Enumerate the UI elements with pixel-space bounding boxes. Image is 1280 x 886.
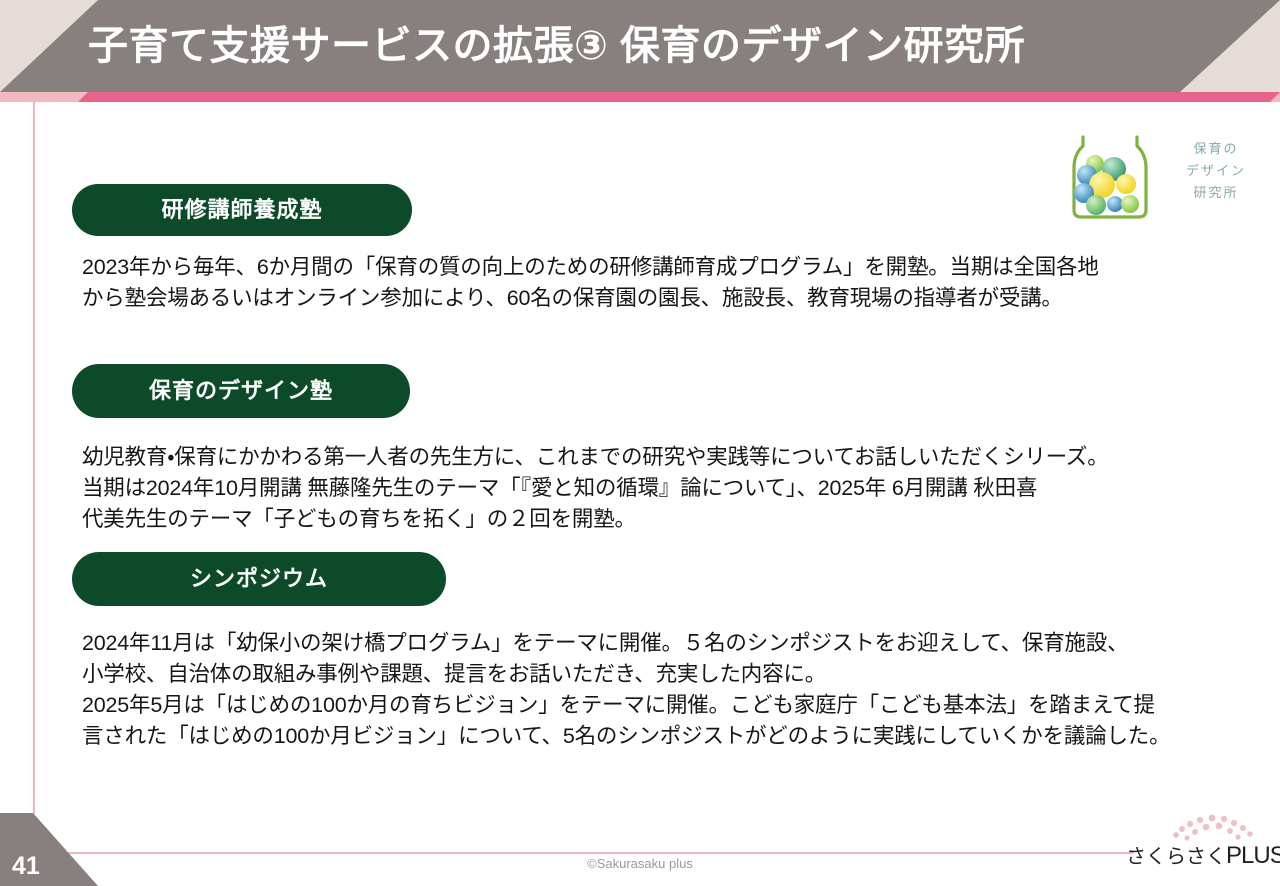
logo-caption-line-2: デザイン bbox=[1170, 160, 1262, 182]
section-kenshu-koushi-yousei-juku: 研修講師養成塾 2023年から毎年、6か月間の「保育の質の向上のための研修講師育… bbox=[0, 184, 1280, 314]
section-symposium: シンポジウム 2024年11月は「幼保小の架け橋プログラム」をテーマに開催。５名… bbox=[0, 552, 1280, 752]
logo-caption-line-1: 保育の bbox=[1170, 138, 1262, 160]
section-body-text: 2024年11月は「幼保小の架け橋プログラム」をテーマに開催。５名のシンポジスト… bbox=[82, 628, 1212, 752]
section-hoiku-no-design-juku: 保育のデザイン塾 幼児教育・保育にかかわる第一人者の先生方に、これまでの研究や実… bbox=[0, 364, 1280, 535]
section-badge: 研修講師養成塾 bbox=[72, 184, 412, 236]
section-badge: 保育のデザイン塾 bbox=[72, 364, 410, 418]
section-body-text: 幼児教育・保育にかかわる第一人者の先生方に、これまでの研究や実践等についてお話し… bbox=[82, 442, 1212, 535]
sakurasaku-plus-logo: さくらさくPLUS bbox=[1126, 814, 1272, 876]
brand-wordmark: さくらさくPLUS bbox=[1126, 840, 1272, 870]
slide-canvas: 子育て支援サービスの拡張③ 保育のデザイン研究所 bbox=[0, 0, 1280, 886]
page-title: 子育て支援サービスの拡張③ 保育のデザイン研究所 bbox=[88, 14, 1188, 78]
section-badge: シンポジウム bbox=[72, 552, 446, 606]
slide-header: 子育て支援サービスの拡張③ 保育のデザイン研究所 bbox=[0, 0, 1280, 102]
copyright-notice: ©Sakurasaku plus bbox=[0, 856, 1280, 871]
header-pink-accent-bar bbox=[0, 92, 1280, 102]
brand-wordmark-latin: PLUS bbox=[1226, 842, 1280, 869]
footer-horizontal-rule bbox=[33, 852, 1133, 854]
section-body-text: 2023年から毎年、6か月間の「保育の質の向上のための研修講師育成プログラム」を… bbox=[82, 252, 1212, 314]
brand-wordmark-jp: さくらさく bbox=[1126, 846, 1226, 868]
